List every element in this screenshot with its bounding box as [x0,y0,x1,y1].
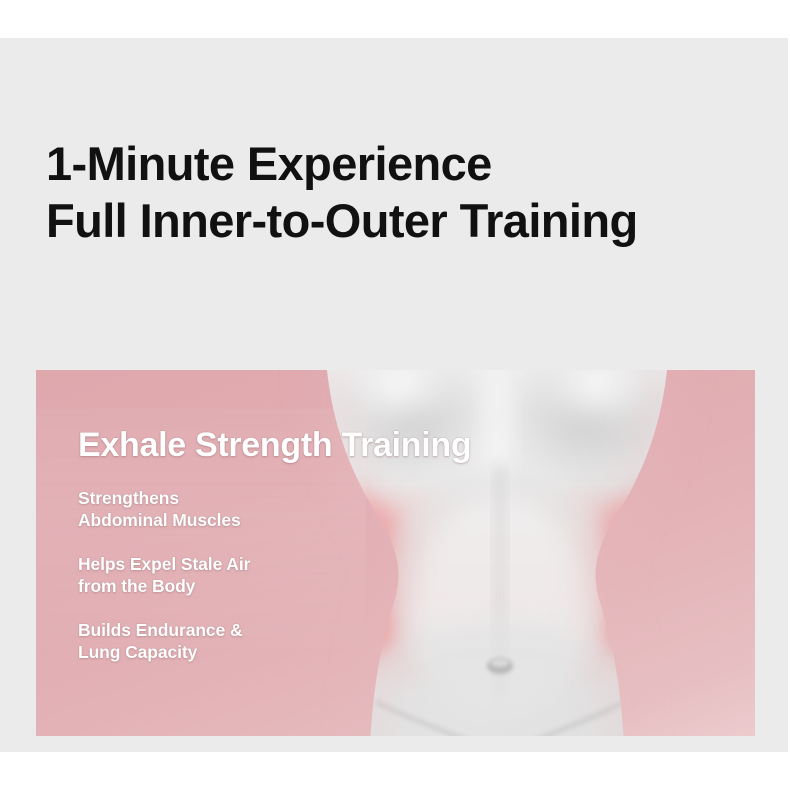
hero-title: Exhale Strength Training [78,425,418,465]
hero-benefit-item-3: Builds Endurance & Lung Capacity [78,619,418,663]
hero-copy-block: Exhale Strength Training Strengthens Abd… [78,425,418,663]
hero-benefit-list: Strengthens Abdominal Muscles Helps Expe… [78,487,418,663]
headline-line-1: 1-Minute Experience [46,135,746,192]
hero-image-panel: Exhale Strength Training Strengthens Abd… [36,370,755,736]
product-detail-page: 1-Minute Experience Full Inner-to-Outer … [0,0,790,790]
hero-benefit-item-2: Helps Expel Stale Air from the Body [78,553,418,597]
hero-benefit-item-1: Strengthens Abdominal Muscles [78,487,418,531]
page-title: 1-Minute Experience Full Inner-to-Outer … [46,135,746,249]
headline-line-2: Full Inner-to-Outer Training [46,192,746,249]
watermark-ghost-text [46,282,706,304]
